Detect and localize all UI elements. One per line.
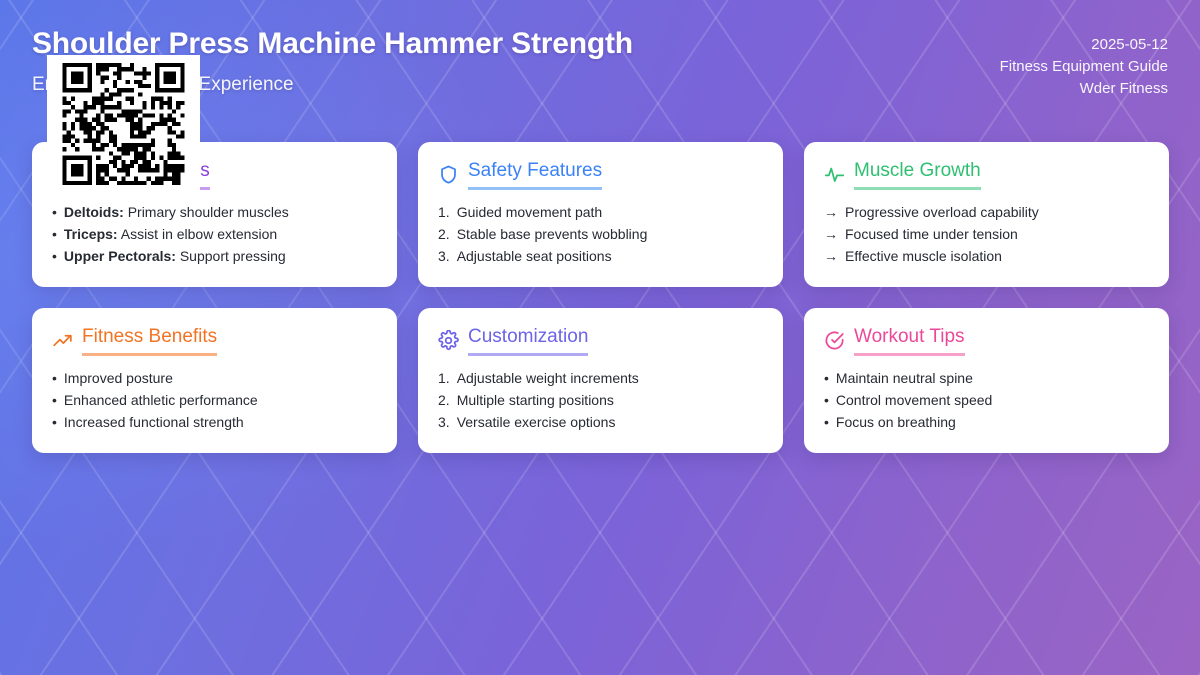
list-item: •Upper Pectorals: Support pressing (52, 245, 377, 267)
list-marker: 3. (438, 249, 450, 263)
list-item-body: Effective muscle isolation (845, 248, 1002, 264)
card-header: Fitness Benefits (52, 326, 377, 356)
list-item-text: Upper Pectorals: Support pressing (64, 249, 286, 263)
list-item: 1.Guided movement path (438, 201, 763, 223)
list-marker: 1. (438, 371, 450, 385)
info-card: Safety Features1.Guided movement path2.S… (418, 142, 783, 287)
list-item-body: Adjustable seat positions (457, 248, 612, 264)
list-marker: 2. (438, 393, 450, 407)
list-item: 2.Multiple starting positions (438, 389, 763, 411)
list-item-body: Primary shoulder muscles (128, 204, 289, 220)
list-item-body: Stable base prevents wobbling (457, 226, 648, 242)
list-marker: 1. (438, 205, 450, 219)
check-circle-icon (824, 330, 845, 351)
trending-up-icon (52, 330, 73, 351)
list-item-label: Triceps: (64, 226, 118, 242)
list-item-text: Deltoids: Primary shoulder muscles (64, 205, 289, 219)
list-item: 2.Stable base prevents wobbling (438, 223, 763, 245)
activity-pulse-icon (824, 164, 845, 185)
card-title: Customization (468, 326, 588, 356)
list-item-text: Triceps: Assist in elbow extension (64, 227, 277, 241)
card-title: Muscle Growth (854, 160, 981, 190)
list-item-body: Maintain neutral spine (836, 370, 973, 386)
card-list: →Progressive overload capability→Focused… (824, 201, 1149, 267)
header-meta-block: 2025-05-12 Fitness Equipment Guide Wder … (1000, 26, 1168, 99)
list-item-body: Enhanced athletic performance (64, 392, 258, 408)
list-item-body: Assist in elbow extension (121, 226, 277, 242)
list-item-body: Control movement speed (836, 392, 992, 408)
list-item-text: Guided movement path (457, 205, 603, 219)
list-item: →Effective muscle isolation (824, 245, 1149, 267)
list-item: 1.Adjustable weight increments (438, 367, 763, 389)
list-item-text: Stable base prevents wobbling (457, 227, 648, 241)
card-list: 1.Guided movement path2.Stable base prev… (438, 201, 763, 267)
slide-canvas: Shoulder Press Machine Hammer Strength E… (0, 0, 1200, 675)
list-item-text: Versatile exercise options (457, 415, 616, 429)
card-list: 1.Adjustable weight increments2.Multiple… (438, 367, 763, 433)
list-item-body: Support pressing (180, 248, 286, 264)
list-item-text: Improved posture (64, 371, 173, 385)
list-item: 3.Versatile exercise options (438, 411, 763, 433)
meta-brand: Wder Fitness (1000, 78, 1168, 100)
list-item-text: Multiple starting positions (457, 393, 614, 407)
info-card: Customization1.Adjustable weight increme… (418, 308, 783, 453)
list-item-text: Focused time under tension (845, 227, 1018, 241)
card-list: •Maintain neutral spine•Control movement… (824, 367, 1149, 433)
gear-icon (438, 330, 459, 351)
list-marker: • (52, 415, 57, 429)
list-item-body: Increased functional strength (64, 414, 244, 430)
list-marker: 3. (438, 415, 450, 429)
qr-code-overlay[interactable] (47, 55, 200, 193)
list-marker: • (52, 393, 57, 407)
qr-code-image (55, 63, 192, 185)
list-item-body: Adjustable weight increments (457, 370, 639, 386)
card-header: Safety Features (438, 160, 763, 190)
list-item: •Triceps: Assist in elbow extension (52, 223, 377, 245)
list-item-text: Effective muscle isolation (845, 249, 1002, 263)
meta-category: Fitness Equipment Guide (1000, 56, 1168, 78)
list-item-body: Versatile exercise options (457, 414, 616, 430)
list-item-text: Maintain neutral spine (836, 371, 973, 385)
list-item: •Improved posture (52, 367, 377, 389)
card-list: •Deltoids: Primary shoulder muscles•Tric… (52, 201, 377, 267)
card-list: •Improved posture•Enhanced athletic perf… (52, 367, 377, 433)
list-item-text: Control movement speed (836, 393, 992, 407)
info-card: Muscle Growth→Progressive overload capab… (804, 142, 1169, 287)
list-marker: • (824, 371, 829, 385)
list-item-text: Progressive overload capability (845, 205, 1039, 219)
list-marker: → (824, 205, 838, 219)
list-item: •Increased functional strength (52, 411, 377, 433)
list-item: •Enhanced athletic performance (52, 389, 377, 411)
card-header: Workout Tips (824, 326, 1149, 356)
meta-date: 2025-05-12 (1000, 34, 1168, 56)
card-grid: Target Muscles•Deltoids: Primary shoulde… (32, 142, 1168, 453)
list-item-text: Adjustable seat positions (457, 249, 612, 263)
list-item-body: Improved posture (64, 370, 173, 386)
list-item-label: Upper Pectorals: (64, 248, 176, 264)
shield-icon (438, 164, 459, 185)
card-header: Muscle Growth (824, 160, 1149, 190)
list-item: •Deltoids: Primary shoulder muscles (52, 201, 377, 223)
card-title: Safety Features (468, 160, 602, 190)
list-item: •Control movement speed (824, 389, 1149, 411)
list-item-label: Deltoids: (64, 204, 124, 220)
list-item-text: Adjustable weight increments (457, 371, 639, 385)
card-title: Fitness Benefits (82, 326, 217, 356)
list-marker: • (824, 393, 829, 407)
list-marker: → (824, 227, 838, 241)
card-header: Customization (438, 326, 763, 356)
info-card: Workout Tips•Maintain neutral spine•Cont… (804, 308, 1169, 453)
list-marker: • (52, 371, 57, 385)
list-item-body: Progressive overload capability (845, 204, 1039, 220)
list-item-body: Focused time under tension (845, 226, 1018, 242)
list-item: →Progressive overload capability (824, 201, 1149, 223)
list-item-text: Enhanced athletic performance (64, 393, 258, 407)
list-marker: • (52, 249, 57, 263)
list-marker: • (52, 205, 57, 219)
list-marker: 2. (438, 227, 450, 241)
list-item-text: Focus on breathing (836, 415, 956, 429)
list-item: 3.Adjustable seat positions (438, 245, 763, 267)
list-marker: → (824, 249, 838, 263)
list-item-text: Increased functional strength (64, 415, 244, 429)
card-title: Workout Tips (854, 326, 965, 356)
list-item: →Focused time under tension (824, 223, 1149, 245)
info-card: Fitness Benefits•Improved posture•Enhanc… (32, 308, 397, 453)
list-item: •Maintain neutral spine (824, 367, 1149, 389)
list-item: •Focus on breathing (824, 411, 1149, 433)
list-item-body: Multiple starting positions (457, 392, 614, 408)
list-item-body: Focus on breathing (836, 414, 956, 430)
list-item-body: Guided movement path (457, 204, 603, 220)
list-marker: • (52, 227, 57, 241)
list-marker: • (824, 415, 829, 429)
